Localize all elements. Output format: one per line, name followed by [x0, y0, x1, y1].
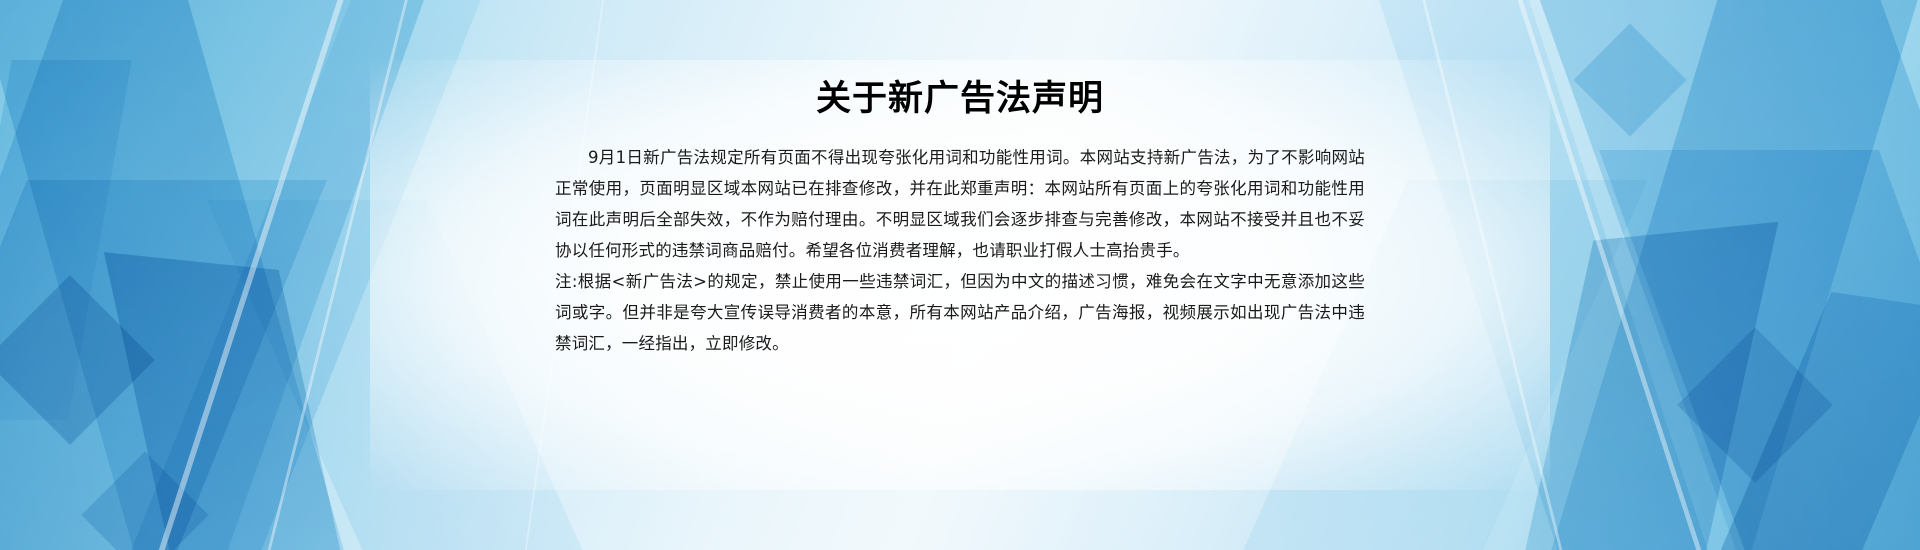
advertising-law-statement-banner: 关于新广告法声明 9月1日新广告法规定所有页面不得出现夸张化用词和功能性用词。本… [0, 0, 1920, 550]
page-title: 关于新广告法声明 [555, 78, 1365, 120]
statement-paragraph-2: 注:根据<新广告法>的规定，禁止使用一些违禁词汇，但因为中文的描述习惯，难免会在… [555, 266, 1365, 359]
statement-content: 关于新广告法声明 9月1日新广告法规定所有页面不得出现夸张化用词和功能性用词。本… [555, 0, 1365, 550]
statement-paragraph-1: 9月1日新广告法规定所有页面不得出现夸张化用词和功能性用词。本网站支持新广告法，… [555, 142, 1365, 266]
